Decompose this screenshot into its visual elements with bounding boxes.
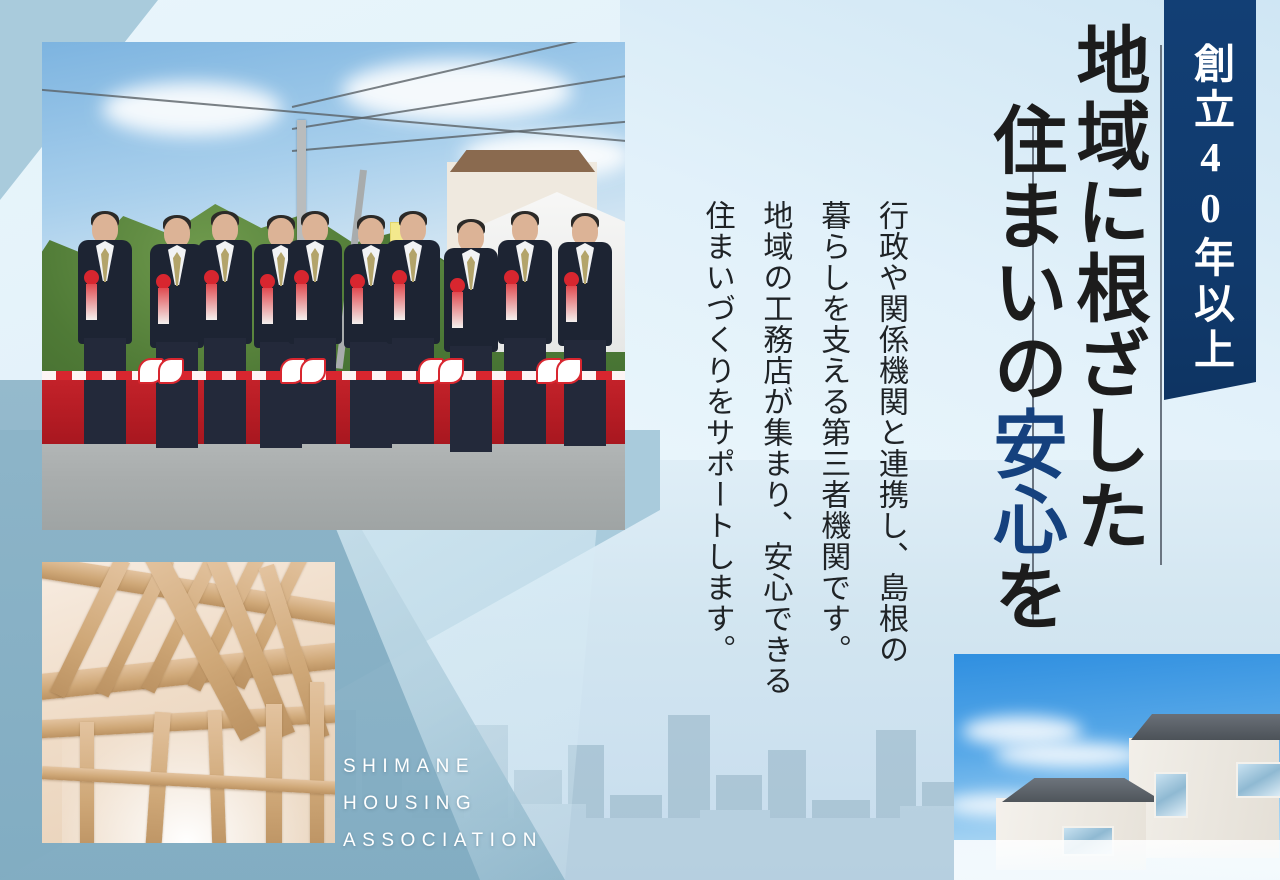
logo-wordmark: SHIMANE HOUSING ASSOCIATION — [343, 748, 543, 859]
body-copy: 住まいづくりをサポートします。 地域の工務店が集まり、安心できる 暮らしを支える… — [681, 200, 912, 740]
glass-fence — [954, 840, 1280, 880]
building-roof — [440, 150, 605, 172]
person — [386, 214, 440, 444]
ribbon-bow — [418, 358, 464, 404]
person — [198, 214, 252, 444]
body-copy-column-4: 住まいづくりをサポートします。 — [695, 200, 739, 740]
body-copy-column-1: 行政や関係機関と連携し、島根の — [868, 200, 912, 670]
cloud — [994, 742, 1144, 768]
window — [1154, 772, 1188, 818]
vertical-post — [266, 704, 282, 843]
person — [498, 214, 552, 444]
person — [78, 214, 132, 444]
body-copy-column-2: 暮らしを支える第三者機関です。 — [810, 200, 854, 700]
ribbon-bow — [138, 358, 184, 404]
headline-line-2: 住まいの安心を — [984, 102, 1061, 662]
ribbon-bow — [280, 358, 326, 404]
person — [288, 214, 342, 444]
headline-line-2-part-a: 住まいの — [982, 102, 1064, 406]
ceremony-photo — [42, 42, 625, 530]
headline-rule-right — [1160, 45, 1162, 565]
body-copy-column-3: 地域の工務店が集まり、安心できる — [753, 200, 797, 720]
wooden-frame-photo — [42, 562, 335, 843]
anniversary-ribbon-label: 創立40年以上 — [1190, 42, 1231, 374]
headline-line-2-part-b: を — [982, 558, 1064, 634]
hero-banner: 創立40年以上 住まいの安心を 地域に根ざした 住まいづくりをサポートします。 … — [0, 0, 1280, 880]
vertical-post — [80, 722, 94, 843]
headline-line-1: 地域に根ざした — [1067, 22, 1144, 582]
logo-line-2: HOUSING — [343, 785, 543, 822]
headline-accent: 安心 — [982, 406, 1064, 558]
logo-line-3: ASSOCIATION — [343, 822, 543, 859]
house-photo — [954, 654, 1280, 880]
window — [1236, 762, 1280, 798]
anniversary-ribbon: 創立40年以上 — [1164, 0, 1256, 400]
headline: 住まいの安心を 地域に根ざした — [984, 22, 1144, 662]
ribbon-bow — [536, 358, 582, 404]
vertical-post — [310, 682, 324, 843]
logo-line-1: SHIMANE — [343, 748, 543, 785]
